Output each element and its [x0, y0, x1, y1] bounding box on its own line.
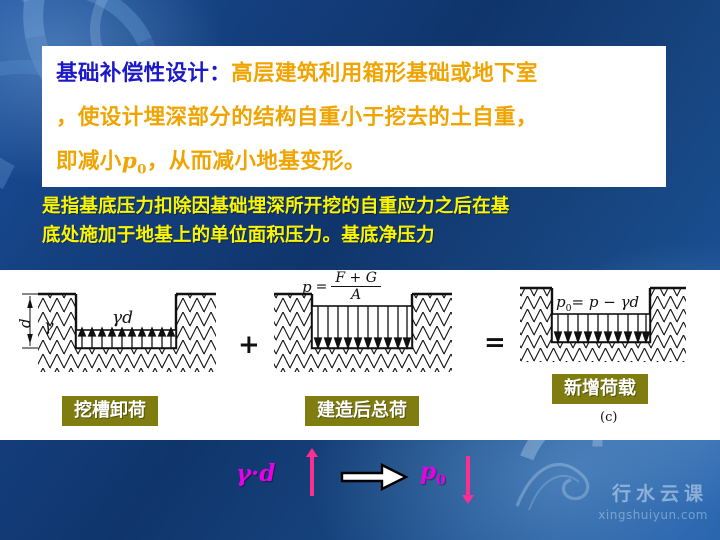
down-arrow-icon [466, 456, 470, 496]
formula-net-lhs: p [556, 293, 566, 311]
formula-equals: = [316, 279, 328, 295]
formula-net-rhs: = p − γd [572, 293, 640, 311]
watermark-text: 行水云课 [612, 479, 708, 506]
gamma-d-symbol: γ·d [236, 460, 275, 487]
depth-label-d: d [16, 318, 34, 328]
p0-symbol-bottom: p0 [420, 458, 446, 489]
definition-paragraph: 是指基底压力扣除因基础埋深所开挖的自重应力之后在基 底处施加于地基上的单位面积压… [42, 192, 692, 250]
slide-canvas: 基础补偿性设计：高层建筑利用箱形基础或地下室 ，使设计埋深部分的结构自重小于挖去… [0, 0, 720, 540]
excavation-unloading-svg [8, 270, 233, 400]
p0-base-bottom: p [420, 458, 436, 485]
title-term-blue: 基础补偿性设计： [56, 61, 231, 86]
title-line-1-gold: 高层建筑利用箱形基础或地下室 [231, 61, 538, 86]
caption-total-load: 建造后总荷 [305, 396, 419, 426]
caption-excavation-unloading: 挖槽卸荷 [62, 396, 158, 426]
title-line-3-suffix: ，从而减小地基变形。 [147, 149, 366, 174]
p0-base: p [122, 149, 137, 174]
up-arrow-icon [310, 456, 314, 496]
p0-subscript: 0 [137, 161, 147, 177]
unit-weight-label-gamma: γ [44, 316, 54, 335]
formula-total-load: p = F + G A [302, 270, 381, 303]
title-line-2: ，使设计埋深部分的结构自重小于挖去的土自重， [56, 96, 656, 140]
figure-sub-caption-c: (c) [600, 410, 617, 425]
equals-operator: = [484, 328, 506, 358]
p0-symbol: p0 [122, 149, 147, 174]
watermark-url: xingshuiyun.com [598, 508, 708, 522]
right-arrow-icon [340, 462, 410, 492]
title-line-3: 即减小p0，从而减小地基变形。 [56, 140, 656, 191]
paragraph-line-2: 底处施加于地基上的单位面积压力。基底净压力 [42, 221, 692, 250]
formula-numerator: F + G [331, 270, 381, 286]
caption-net-additional-load: 新增荷载 [552, 374, 648, 404]
formula-lhs: p [302, 278, 312, 296]
title-line-1: 基础补偿性设计：高层建筑利用箱形基础或地下室 [56, 52, 656, 96]
plus-operator: + [238, 330, 260, 360]
figure-total-load: p = F + G A [262, 270, 477, 400]
title-box: 基础补偿性设计：高层建筑利用箱形基础或地下室 ，使设计埋深部分的结构自重小于挖去… [42, 46, 666, 187]
paragraph-line-1: 是指基底压力扣除因基础埋深所开挖的自重应力之后在基 [42, 192, 692, 221]
diagram-panel: d γ γd + [0, 270, 720, 440]
p0-subscript-bottom: 0 [436, 473, 446, 489]
figure-excavation-unloading: d γ γd [8, 270, 233, 400]
formula-denominator: A [331, 286, 381, 303]
load-label-gamma-d: γd [112, 308, 133, 328]
formula-net-load: p0= p − γd [556, 293, 639, 314]
title-line-3-prefix: 即减小 [56, 149, 122, 174]
